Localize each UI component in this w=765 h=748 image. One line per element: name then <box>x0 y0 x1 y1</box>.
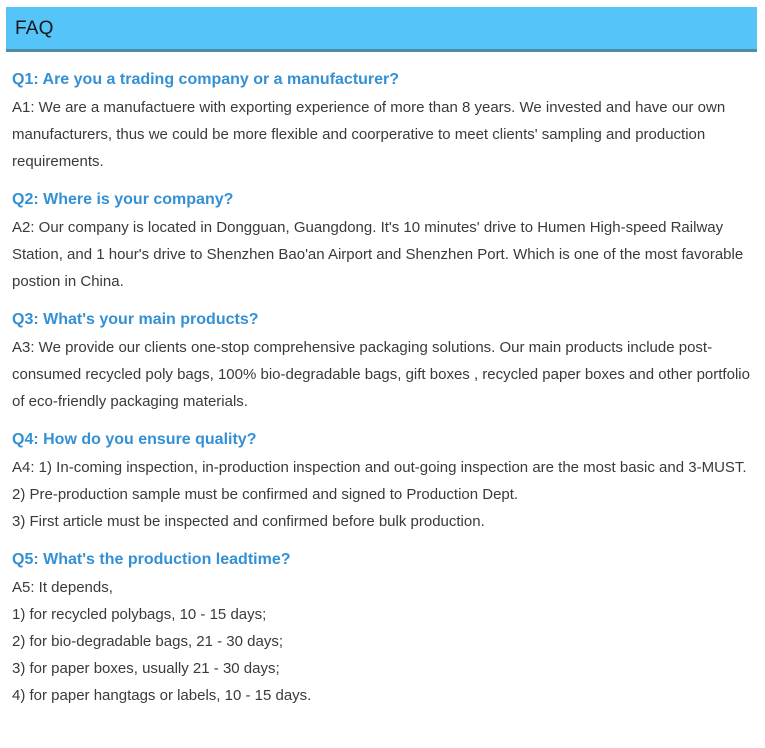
faq-answer-line: 2) Pre-production sample must be confirm… <box>12 481 754 508</box>
faq-answer: A1: We are a manufactuere with exporting… <box>12 94 754 175</box>
page-title: FAQ <box>6 19 54 38</box>
faq-answer-line: A2: Our company is located in Dongguan, … <box>12 214 754 295</box>
faq-answer-line: 4) for paper hangtags or labels, 10 - 15… <box>12 682 754 709</box>
faq-answer-line: 2) for bio-degradable bags, 21 - 30 days… <box>12 628 754 655</box>
faq-page: FAQ Q1: Are you a trading company or a m… <box>0 0 765 748</box>
faq-answer-line: A3: We provide our clients one-stop comp… <box>12 334 754 415</box>
faq-answer: A4: 1) In-coming inspection, in-producti… <box>12 454 754 535</box>
faq-list: Q1: Are you a trading company or a manuf… <box>12 66 754 709</box>
faq-answer-line: A5: It depends, <box>12 574 754 601</box>
faq-item: Q4: How do you ensure quality? A4: 1) In… <box>12 426 754 535</box>
faq-header-bar: FAQ <box>6 7 757 52</box>
faq-answer: A3: We provide our clients one-stop comp… <box>12 334 754 415</box>
faq-question: Q5: What's the production leadtime? <box>12 546 754 573</box>
faq-item: Q5: What's the production leadtime? A5: … <box>12 546 754 709</box>
faq-question: Q4: How do you ensure quality? <box>12 426 754 453</box>
faq-item: Q2: Where is your company? A2: Our compa… <box>12 186 754 295</box>
faq-answer-line: 3) First article must be inspected and c… <box>12 508 754 535</box>
faq-item: Q3: What's your main products? A3: We pr… <box>12 306 754 415</box>
faq-answer: A5: It depends, 1) for recycled polybags… <box>12 574 754 709</box>
faq-answer-line: A1: We are a manufactuere with exporting… <box>12 94 754 175</box>
faq-question: Q1: Are you a trading company or a manuf… <box>12 66 754 93</box>
faq-answer-line: A4: 1) In-coming inspection, in-producti… <box>12 454 754 481</box>
faq-item: Q1: Are you a trading company or a manuf… <box>12 66 754 175</box>
faq-answer-line: 3) for paper boxes, usually 21 - 30 days… <box>12 655 754 682</box>
faq-answer-line: 1) for recycled polybags, 10 - 15 days; <box>12 601 754 628</box>
faq-question: Q3: What's your main products? <box>12 306 754 333</box>
faq-answer: A2: Our company is located in Dongguan, … <box>12 214 754 295</box>
faq-question: Q2: Where is your company? <box>12 186 754 213</box>
